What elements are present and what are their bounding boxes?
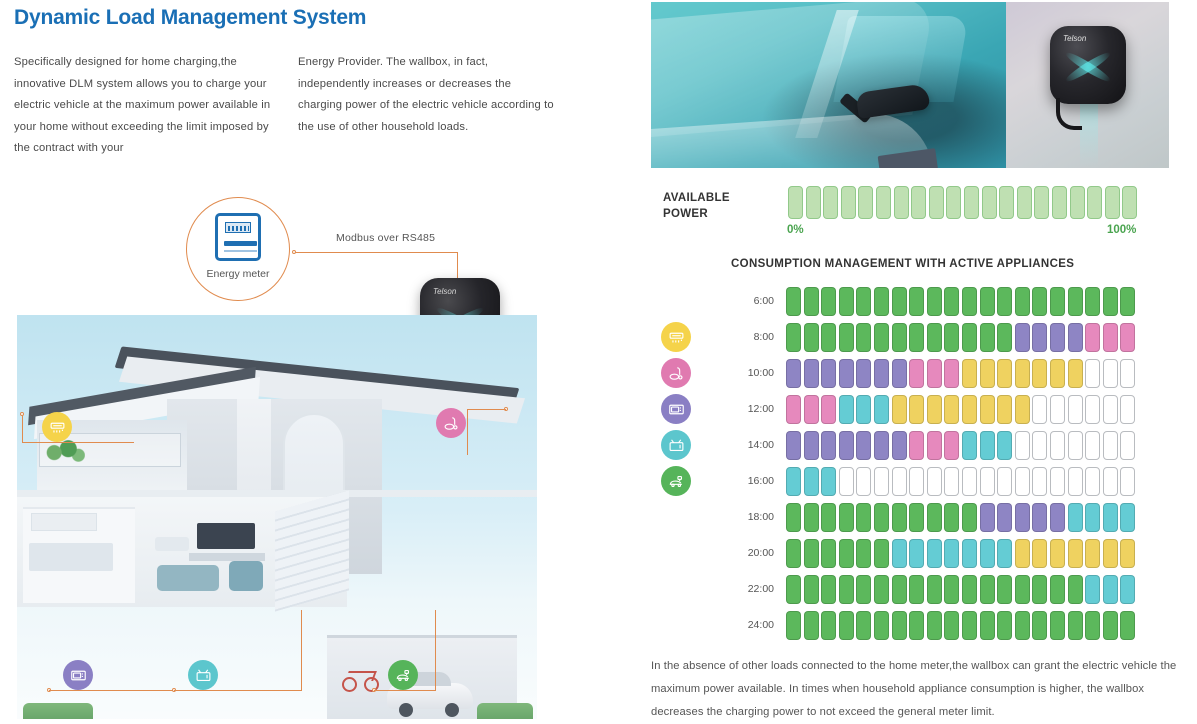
connector-ac-horizontal [22,442,134,443]
consumption-cell [1050,539,1065,568]
sofa [157,565,219,591]
available-power-cell [1017,186,1032,219]
dining-table [155,537,189,551]
consumption-cell [1050,287,1065,316]
consumption-cell [786,611,801,640]
consumption-cell [1015,539,1030,568]
consumption-cell [997,287,1012,316]
available-power-cell [1087,186,1102,219]
page-root: Dynamic Load Management System Specifica… [0,0,1197,724]
consumption-cell [1015,503,1030,532]
consumption-cell [1103,431,1118,460]
consumption-row: 8:00 [651,319,1197,355]
consumption-cell [1068,539,1083,568]
row-cells [786,287,1135,316]
air-conditioner-icon [49,419,66,436]
dlm-diagram: Energy meter Modbus over RS485 Telson [0,180,640,724]
left-column: Dynamic Load Management System Specifica… [0,0,640,724]
consumption-cell [1032,395,1047,424]
connector-car-vertical [435,610,436,690]
consumption-cell [786,575,801,604]
kitchen-counter [29,543,113,571]
consumption-cell [856,467,871,496]
television-icon [668,437,685,454]
consumption-cell [892,359,907,388]
consumption-cell [856,395,871,424]
available-power-cell [999,186,1014,219]
consumption-cell [1085,323,1100,352]
consumption-cell [1050,611,1065,640]
row-cells [786,359,1135,388]
consumption-row: 16:00 [651,463,1197,499]
living-room [137,513,277,607]
consumption-cell [927,611,942,640]
consumption-cell [1103,611,1118,640]
consumption-cell [786,431,801,460]
consumption-cell [1120,539,1135,568]
consumption-row: 6:00 [651,283,1197,319]
hero-car-photo [651,2,1006,168]
consumption-cell [962,467,977,496]
row-cells [786,575,1135,604]
television-icon [195,667,212,684]
consumption-cell [927,323,942,352]
consumption-cell [927,467,942,496]
consumption-cell [1015,287,1030,316]
consumption-cell [1015,431,1030,460]
row-cells [786,503,1135,532]
consumption-cell [804,431,819,460]
consumption-cell [909,431,924,460]
legend-badge-vacuum-cleaner[interactable] [661,358,691,388]
consumption-cell [839,575,854,604]
consumption-cell [962,395,977,424]
available-power-cell [806,186,821,219]
consumption-cell [980,539,995,568]
floor-slab [17,490,537,497]
consumption-cell [909,359,924,388]
row-time-label: 6:00 [701,295,786,307]
consumption-cell [927,539,942,568]
consumption-cell [839,323,854,352]
connector-television-horizontal [174,690,302,691]
available-power-label-line1: AVAILABLE [663,190,730,206]
consumption-cell [856,539,871,568]
row-cells [786,539,1135,568]
house-illustration [17,315,537,724]
consumption-cell [997,503,1012,532]
consumption-cell [1050,575,1065,604]
consumption-cell [1068,467,1083,496]
consumption-cell [944,467,959,496]
consumption-cell [997,431,1012,460]
consumption-cell [927,359,942,388]
row-time-label: 10:00 [701,367,786,379]
consumption-cell [892,503,907,532]
available-power-cell [946,186,961,219]
consumption-cell [909,467,924,496]
consumption-cell [1050,503,1065,532]
consumption-cell [962,539,977,568]
consumption-cell [1120,431,1135,460]
consumption-cell [980,323,995,352]
consumption-cell [927,503,942,532]
consumption-cell [1120,287,1135,316]
consumption-cell [856,287,871,316]
consumption-cell [962,611,977,640]
consumption-cell [1103,467,1118,496]
hero-image: Telson [651,2,1169,168]
consumption-cell [1120,359,1135,388]
available-power-cell [788,186,803,219]
staircase [275,490,349,611]
consumption-cell [821,539,836,568]
consumption-cell [1103,575,1118,604]
consumption-cell [892,287,907,316]
consumption-cell [1032,359,1047,388]
available-power-cell [841,186,856,219]
available-power-cell [894,186,909,219]
consumption-cell [892,395,907,424]
consumption-cell [980,359,995,388]
consumption-cell [892,539,907,568]
consumption-cell [839,467,854,496]
living-room-tv [197,523,255,549]
consumption-cell [997,467,1012,496]
consumption-cell [909,575,924,604]
consumption-cell [980,611,995,640]
intro-column-2: Energy Provider. The wallbox, in fact, i… [298,52,556,160]
consumption-cell [874,287,889,316]
badge-microwave-oven[interactable] [63,660,93,690]
consumption-cell [856,431,871,460]
consumption-cell [997,359,1012,388]
intro-paragraph-1: Specifically designed for home charging,… [14,52,272,160]
consumption-cell [962,287,977,316]
consumption-cell [786,287,801,316]
consumption-cell [909,323,924,352]
legend-badge-electric-car[interactable] [661,466,691,496]
consumption-cell [874,323,889,352]
consumption-cell [821,323,836,352]
vacuum-cleaner-icon [443,415,460,432]
air-conditioner-icon [668,329,685,346]
consumption-cell [1103,503,1118,532]
consumption-cell [874,467,889,496]
consumption-cell [1050,467,1065,496]
connector-dot-ac [20,412,24,416]
armchair [229,561,263,591]
row-cells [786,611,1135,640]
consumption-cell [1032,323,1047,352]
vacuum-cleaner-icon [668,365,685,382]
consumption-cell [1015,395,1030,424]
connector-vacuum-vertical [467,409,468,455]
consumption-cell [804,287,819,316]
consumption-cell [839,431,854,460]
consumption-cell [909,287,924,316]
consumption-cell [1085,467,1100,496]
badge-television[interactable] [188,660,218,690]
consumption-row: 12:00 [651,391,1197,427]
appliance-icon-slot [651,394,701,424]
row-time-label: 12:00 [701,403,786,415]
consumption-cell [874,395,889,424]
connector-vacuum-horizontal [468,409,506,410]
appliance-icon-slot [651,322,701,352]
hero-wallbox-cable [1056,98,1082,130]
row-cells [786,323,1135,352]
consumption-cell [821,431,836,460]
microwave-oven-icon [668,401,685,418]
consumption-cell [1032,611,1047,640]
consumption-cell [1085,287,1100,316]
consumption-cell [1085,431,1100,460]
consumption-cell [786,323,801,352]
appliance-icon-slot [651,358,701,388]
consumption-cell [909,611,924,640]
badge-electric-car[interactable] [388,660,418,690]
consumption-cell [821,467,836,496]
consumption-cell [909,395,924,424]
consumption-cell [1068,359,1083,388]
legend-badge-air-conditioner[interactable] [661,322,691,352]
electric-car-icon [395,667,412,684]
consumption-cell [1050,431,1065,460]
available-power-min-label: 0% [787,224,804,236]
consumption-cell [1068,323,1083,352]
consumption-section-title: CONSUMPTION MANAGEMENT WITH ACTIVE APPLI… [731,258,1074,270]
consumption-cell [1068,611,1083,640]
consumption-cell [1103,359,1118,388]
row-time-label: 16:00 [701,475,786,487]
consumption-caption: In the absence of other loads connected … [651,655,1179,724]
consumption-cell [821,575,836,604]
consumption-cell [1120,395,1135,424]
consumption-cell [944,323,959,352]
consumption-cell [856,611,871,640]
consumption-cell [1103,395,1118,424]
consumption-cell [1050,395,1065,424]
legend-badge-microwave-oven[interactable] [661,394,691,424]
consumption-cell [1032,539,1047,568]
consumption-cell [821,287,836,316]
consumption-cell [856,359,871,388]
consumption-cell [804,323,819,352]
consumption-cell [944,395,959,424]
consumption-cell [944,575,959,604]
consumption-cell [874,611,889,640]
consumption-cell [804,467,819,496]
available-power-label: AVAILABLE POWER [663,190,730,222]
consumption-cell [1015,359,1030,388]
consumption-cell [821,395,836,424]
consumption-cell [874,539,889,568]
hero-wallbox-device: Telson [1050,26,1126,104]
consumption-cell [980,395,995,424]
consumption-cell [980,431,995,460]
available-power-cell [1105,186,1120,219]
row-time-label: 20:00 [701,547,786,559]
consumption-cell [927,575,942,604]
consumption-cell [962,575,977,604]
consumption-cell [1120,323,1135,352]
row-time-label: 22:00 [701,583,786,595]
consumption-cell [1068,287,1083,316]
modbus-label: Modbus over RS485 [336,232,435,244]
consumption-cell [786,539,801,568]
consumption-cell [1050,323,1065,352]
consumption-cell [944,431,959,460]
right-column: Telson AVAILABLE POWER 0% 100% CONSUMPTI… [651,0,1197,724]
connector-television-vertical [301,610,302,690]
consumption-cell [1085,611,1100,640]
energy-meter-icon [215,213,261,261]
connector-microwave-horizontal [49,690,176,691]
consumption-cell [839,611,854,640]
consumption-cell [962,431,977,460]
consumption-cell [839,539,854,568]
row-cells [786,431,1135,460]
available-power-max-label: 100% [1107,224,1136,236]
consumption-cell [944,503,959,532]
available-power-cell [929,186,944,219]
consumption-cell [997,395,1012,424]
microwave-oven-icon [70,667,87,684]
row-time-label: 24:00 [701,619,786,631]
consumption-cell [1103,323,1118,352]
available-power-bar [788,186,1137,219]
badge-air-conditioner[interactable] [42,412,72,442]
consumption-cell [839,503,854,532]
consumption-cell [1032,467,1047,496]
tv-stand [189,553,265,561]
consumption-cell [1015,467,1030,496]
consumption-cell [1103,287,1118,316]
meter-bar [224,241,257,246]
wallbox-brand-label: Telson [433,287,456,296]
available-power-cell [858,186,873,219]
badge-vacuum-cleaner[interactable] [436,408,466,438]
intro-paragraphs: Specifically designed for home charging,… [14,52,559,160]
available-power-cell [911,186,926,219]
consumption-grid: 6:008:0010:0012:0014:0016:0018:0020:0022… [651,283,1197,643]
consumption-cell [927,431,942,460]
consumption-cell [874,503,889,532]
consumption-cell [874,431,889,460]
consumption-cell [997,539,1012,568]
consumption-row: 14:00 [651,427,1197,463]
consumption-cell [892,611,907,640]
consumption-cell [1068,575,1083,604]
consumption-cell [1120,575,1135,604]
consumption-cell [1085,539,1100,568]
available-power-cell [1070,186,1085,219]
consumption-cell [962,323,977,352]
consumption-row: 18:00 [651,499,1197,535]
available-power-cell [982,186,997,219]
consumption-cell [856,503,871,532]
terrace-plants [41,437,85,463]
consumption-cell [997,611,1012,640]
consumption-cell [1120,611,1135,640]
consumption-row: 22:00 [651,571,1197,607]
available-power-cell [823,186,838,219]
consumption-cell [1085,503,1100,532]
consumption-cell [962,503,977,532]
consumption-cell [786,395,801,424]
hero-wallbox-photo: Telson [1006,2,1169,168]
ground [17,719,537,724]
consumption-cell [786,359,801,388]
connector-ac-vertical [22,416,23,442]
available-power-cell [876,186,891,219]
consumption-cell [1120,503,1135,532]
hero-wallbox-brand: Telson [1063,34,1086,43]
consumption-cell [839,395,854,424]
available-power-cell [1122,186,1137,219]
legend-badge-television[interactable] [661,430,691,460]
consumption-cell [856,323,871,352]
consumption-cell [944,359,959,388]
consumption-cell [804,539,819,568]
consumption-cell [927,395,942,424]
consumption-cell [1015,611,1030,640]
consumption-cell [856,575,871,604]
consumption-cell [786,467,801,496]
intro-paragraph-2: Energy Provider. The wallbox, in fact, i… [298,52,556,138]
consumption-cell [1032,431,1047,460]
consumption-cell [1068,395,1083,424]
consumption-cell [1032,503,1047,532]
consumption-cell [1085,395,1100,424]
row-cells [786,467,1135,496]
consumption-cell [980,467,995,496]
consumption-cell [962,359,977,388]
page-title: Dynamic Load Management System [14,6,366,30]
consumption-cell [804,503,819,532]
consumption-cell [874,359,889,388]
consumption-cell [1068,503,1083,532]
consumption-cell [1085,575,1100,604]
consumption-row: 10:00 [651,355,1197,391]
consumption-cell [892,467,907,496]
consumption-cell [997,323,1012,352]
consumption-cell [804,395,819,424]
available-power-cell [1034,186,1049,219]
row-cells [786,395,1135,424]
consumption-cell [804,359,819,388]
consumption-cell [786,503,801,532]
consumption-cell [927,287,942,316]
consumption-row: 20:00 [651,535,1197,571]
available-power-cell [1052,186,1067,219]
consumption-cell [874,575,889,604]
consumption-cell [980,287,995,316]
intro-column-1: Specifically designed for home charging,… [14,52,272,160]
appliance-icon-slot [651,430,701,460]
consumption-cell [909,539,924,568]
consumption-cell [1032,287,1047,316]
kitchen-upper-cabinet [31,513,97,531]
consumption-cell [821,611,836,640]
consumption-cell [980,503,995,532]
consumption-cell [1068,431,1083,460]
consumption-cell [1085,359,1100,388]
consumption-cell [1050,359,1065,388]
consumption-cell [1015,575,1030,604]
row-time-label: 18:00 [701,511,786,523]
